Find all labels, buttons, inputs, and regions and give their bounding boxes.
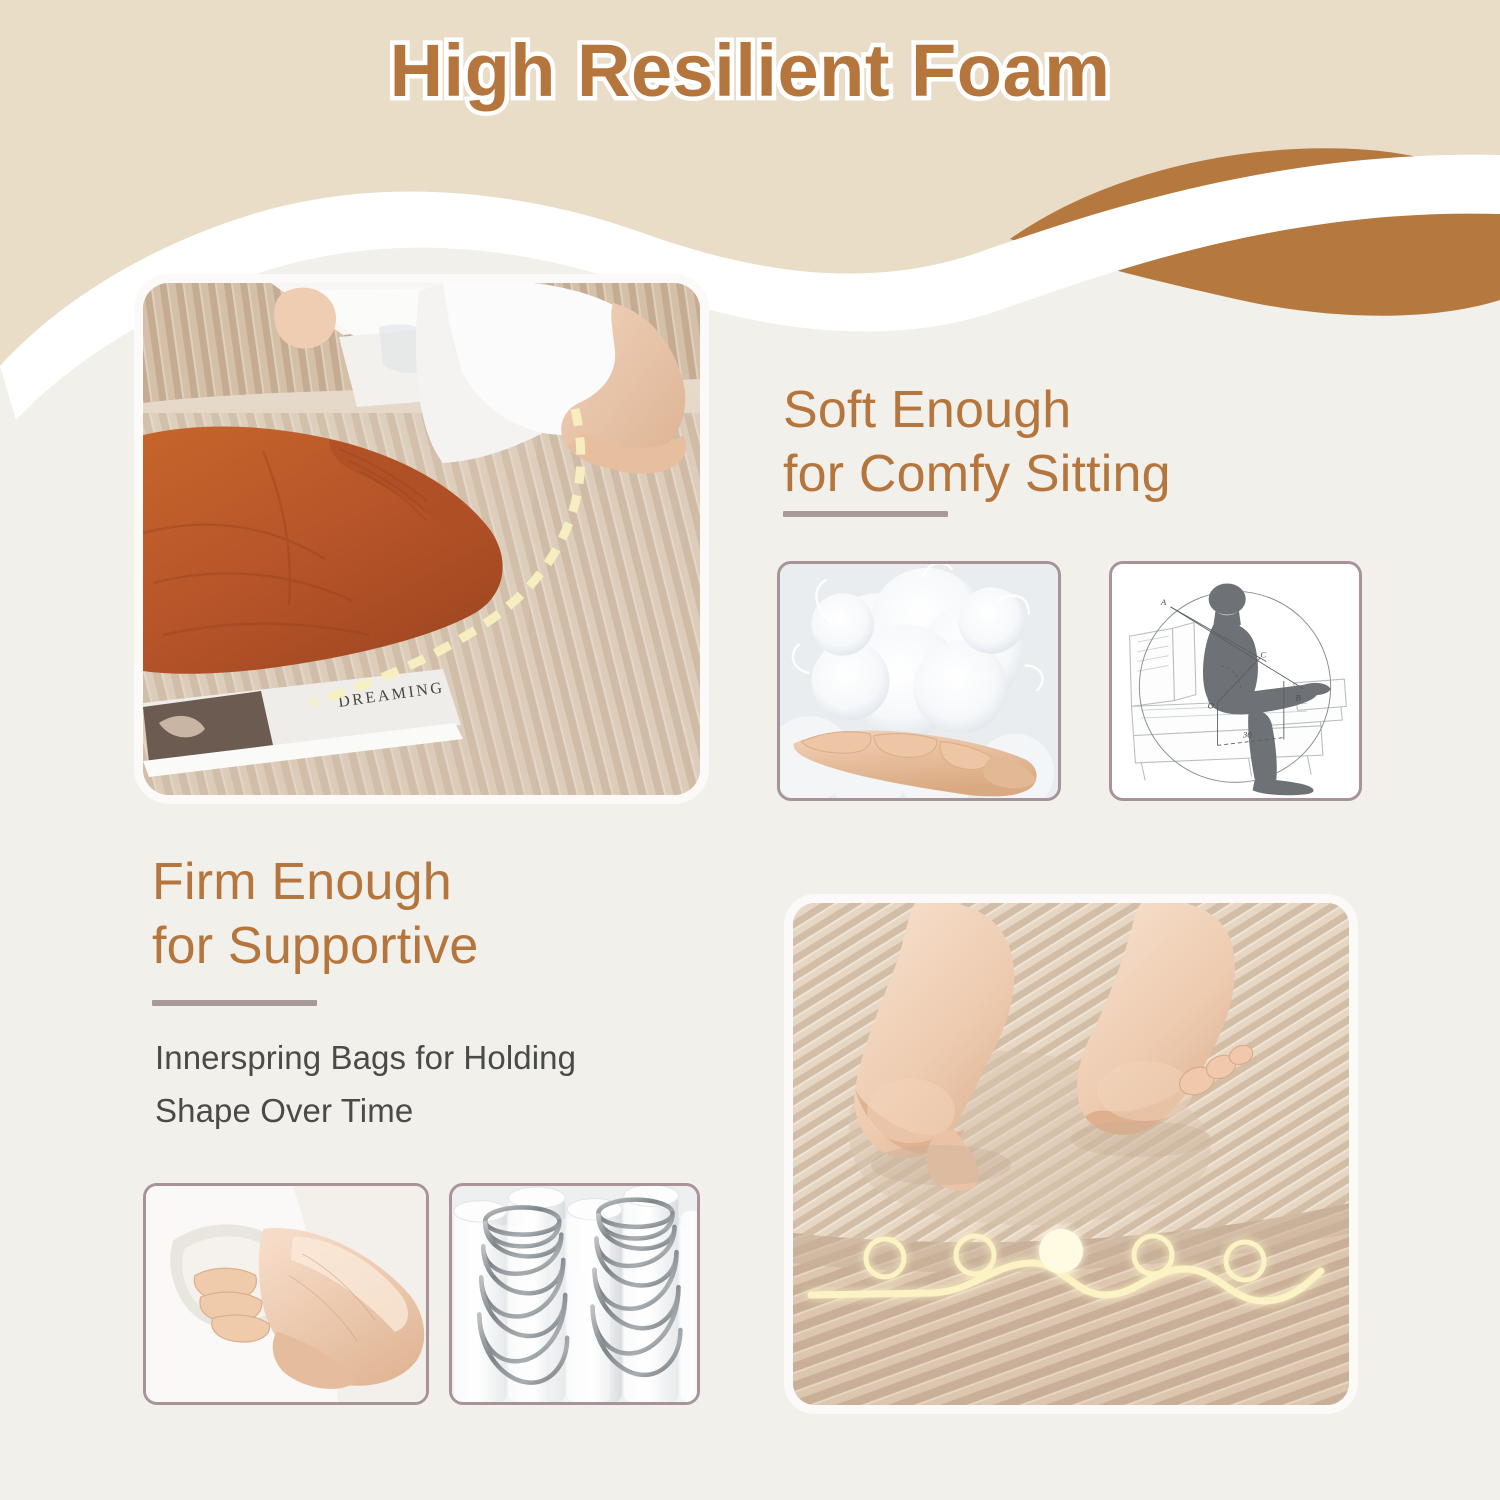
firm-section-rule — [152, 1000, 317, 1006]
soft-section-rule — [783, 511, 948, 517]
diagram-label-c: C — [1260, 650, 1266, 660]
thumb-fiberfill-in-hand — [777, 561, 1061, 801]
diagram-label-30: 30 — [1242, 730, 1252, 740]
feet-photo-on-cushion — [793, 903, 1349, 1405]
pocket-spring-scene — [452, 1186, 697, 1402]
ergonomic-diagram-scene: A B C O 30 — [1112, 564, 1359, 798]
thumb-pocket-spring-coils — [449, 1183, 700, 1405]
diagram-label-o: O — [1208, 700, 1215, 710]
fiberfill-scene — [780, 564, 1058, 798]
feet-photo-scene — [793, 903, 1349, 1405]
soft-section-headline: Soft Enough for Comfy Sitting — [783, 378, 1403, 507]
thumb-ergonomic-seating-diagram: A B C O 30 — [1109, 561, 1362, 801]
hero-photo-person-sitting: DREAMING — [143, 283, 700, 795]
page-title: High Resilient Foam — [0, 28, 1500, 113]
infographic-root: High Resilient Foam — [0, 0, 1500, 1500]
firm-section-subcopy: Innerspring Bags for Holding Shape Over … — [155, 1032, 755, 1138]
hero-photo-scene: DREAMING — [143, 283, 700, 795]
foam-press-scene — [146, 1186, 426, 1402]
wave-circle-filled-3 — [1039, 1229, 1083, 1273]
thumb-hand-pressing-foam — [143, 1183, 429, 1405]
diagram-label-b: B — [1296, 693, 1302, 703]
firm-section-headline: Firm Enough for Supportive — [152, 850, 772, 979]
diagram-label-a: A — [1160, 597, 1167, 607]
